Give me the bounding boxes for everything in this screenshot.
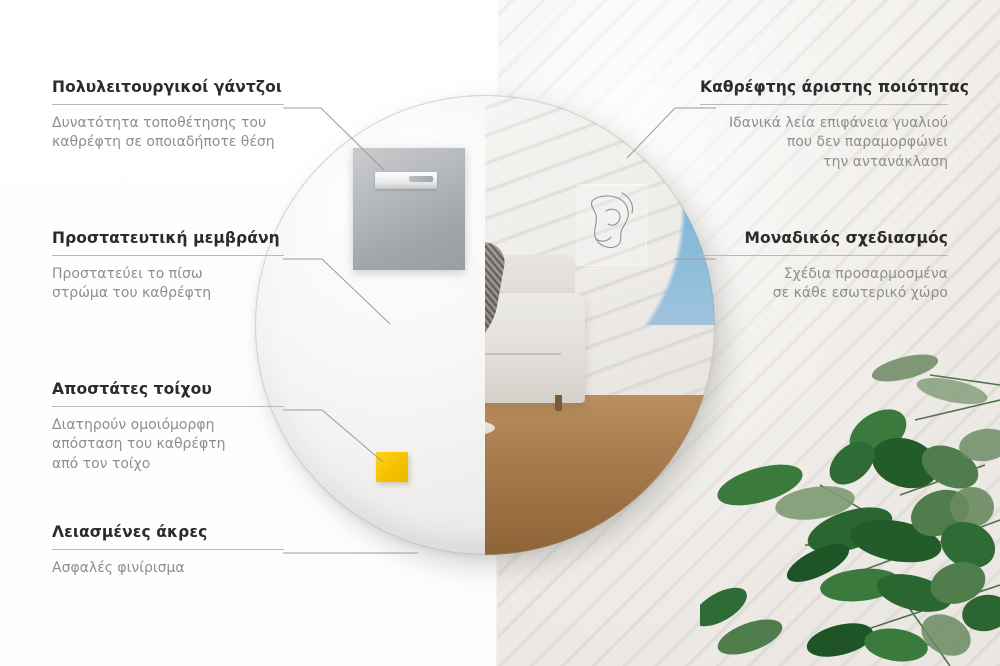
callout-rule — [52, 406, 284, 407]
brand-engraving-plaque — [577, 184, 647, 266]
callout-rule — [700, 255, 948, 256]
face-line-art-icon — [578, 185, 644, 263]
callout-description: Προστατεύει το πίσω στρώμα του καθρέφτη — [52, 265, 284, 305]
hook-plate — [353, 148, 465, 270]
callout-unique-design: Μοναδικός σχεδιασμός Σχέδια προσαρμοσμέν… — [700, 229, 948, 304]
foliage-branch — [700, 345, 1000, 666]
callout-title: Αποστάτες τοίχου — [52, 380, 284, 399]
callout-rule — [52, 104, 284, 105]
callout-wall-spacers: Αποστάτες τοίχου Διατηρούν ομοιόμορφη απ… — [52, 380, 284, 475]
callout-description: Δυνατότητα τοποθέτησης του καθρέφτη σε ο… — [52, 114, 284, 154]
callout-title: Λειασμένες άκρες — [52, 523, 284, 542]
callout-description: Ασφαλές φινίρισμα — [52, 559, 284, 579]
callout-title: Πολυλειτουργικοί γάντζοι — [52, 78, 284, 97]
yellow-spacer — [376, 452, 408, 482]
callout-rule — [52, 255, 284, 256]
callout-description: Σχέδια προσαρμοσμένα σε κάθε εσωτερικό χ… — [700, 265, 948, 305]
callout-description: Ιδανικά λεία επιφάνεια γυαλιού που δεν π… — [700, 114, 948, 174]
callout-title: Μοναδικός σχεδιασμός — [700, 229, 948, 248]
foliage-icon — [700, 345, 1000, 666]
infographic-canvas: Πολυλειτουργικοί γάντζοι Δυνατότητα τοπο… — [0, 0, 1000, 666]
callout-rule — [700, 104, 948, 105]
callout-title: Καθρέφτης άριστης ποιότητας — [700, 78, 948, 97]
callout-title: Προστατευτική μεμβράνη — [52, 229, 284, 248]
hook-slot-highlight — [409, 176, 433, 182]
round-mirror — [255, 95, 715, 555]
callout-smoothed-edges: Λειασμένες άκρες Ασφαλές φινίρισμα — [52, 523, 284, 578]
callout-top-quality-mirror: Καθρέφτης άριστης ποιότητας Ιδανικά λεία… — [700, 78, 948, 173]
callout-rule — [52, 549, 284, 550]
callout-multifunctional-hooks: Πολυλειτουργικοί γάντζοι Δυνατότητα τοπο… — [52, 78, 284, 153]
callout-protective-membrane: Προστατευτική μεμβράνη Προστατεύει το πί… — [52, 229, 284, 304]
callout-description: Διατηρούν ομοιόμορφη απόσταση του καθρέφ… — [52, 416, 284, 476]
